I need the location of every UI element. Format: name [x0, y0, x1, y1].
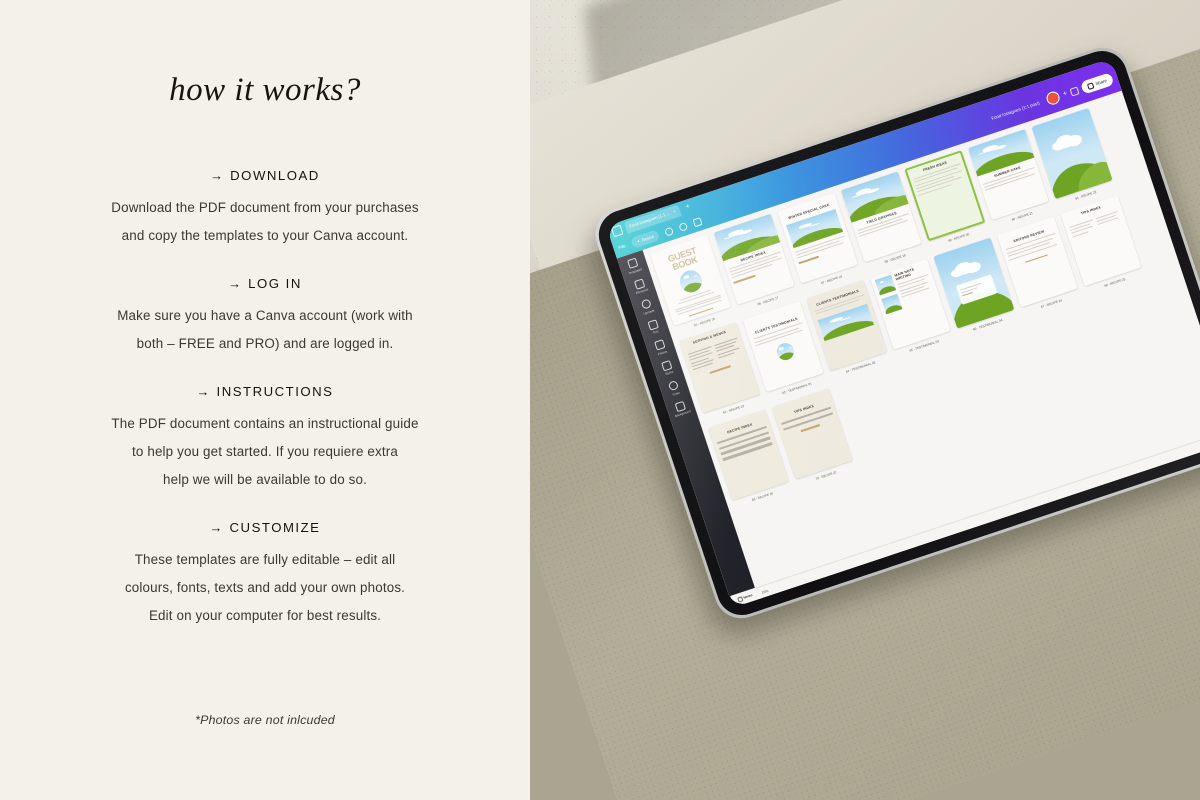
- step-body-line: help we will be available to do so.: [0, 466, 530, 494]
- undo-icon[interactable]: [664, 226, 674, 236]
- cloud-shape: [683, 275, 689, 280]
- sidebar-item-label: Styles: [665, 370, 674, 376]
- page-photo: [875, 275, 896, 296]
- zoom-level[interactable]: 16%: [761, 588, 769, 594]
- two-column-body: MAIN NOTE WRITING: [875, 264, 936, 315]
- step-log-in: →LOG IN Make sure you have a Canva accou…: [0, 276, 530, 358]
- file-menu[interactable]: File: [618, 243, 626, 250]
- sparkle-icon: ✦: [636, 238, 641, 244]
- page-photo: [881, 294, 902, 315]
- close-icon[interactable]: ×: [672, 209, 676, 215]
- accent-line: [1025, 254, 1048, 263]
- sidebar-item-uploads[interactable]: Uploads: [633, 296, 660, 317]
- cloud-shape: [855, 187, 871, 197]
- step-download: →DOWNLOAD Download the PDF document from…: [0, 168, 530, 250]
- step-heading-label: INSTRUCTIONS: [217, 384, 334, 399]
- arrow-icon: →: [210, 168, 223, 183]
- hill-shape: [877, 284, 896, 296]
- step-heading: →DOWNLOAD: [0, 168, 530, 183]
- step-heading: →CUSTOMIZE: [0, 520, 530, 535]
- cloud-shape: [879, 280, 884, 284]
- avatar-photo: [774, 341, 795, 362]
- cloud-shape: [953, 260, 974, 277]
- step-heading-label: CUSTOMIZE: [230, 520, 321, 535]
- sidebar-item-label: Text: [652, 329, 659, 335]
- sidebar-item-label: Draw: [672, 390, 680, 396]
- sidebar-item-text[interactable]: Text: [640, 316, 667, 337]
- redo-icon[interactable]: [678, 221, 688, 231]
- hill-shape: [883, 303, 902, 315]
- home-icon[interactable]: [611, 224, 624, 237]
- hill-shape: [776, 351, 795, 363]
- step-body-line: These templates are fully editable – edi…: [0, 546, 530, 574]
- cloud-shape: [1054, 133, 1075, 151]
- accent-line: [962, 292, 972, 296]
- new-tab-button[interactable]: +: [682, 202, 694, 212]
- arrow-icon: →: [228, 276, 241, 291]
- step-heading-label: DOWNLOAD: [230, 168, 320, 183]
- step-heading: →LOG IN: [0, 276, 530, 291]
- sidebar-item-label: Photos: [657, 349, 667, 356]
- cloud-shape: [779, 347, 784, 351]
- accent-line: [800, 424, 820, 432]
- arrow-icon: →: [210, 520, 223, 535]
- step-body-line: colours, fonts, texts and add your own p…: [0, 574, 530, 602]
- sidebar-item-styles[interactable]: Styles: [654, 357, 681, 378]
- arrow-icon: →: [197, 384, 210, 399]
- mockup-page: how it works? →DOWNLOAD Download the PDF…: [0, 0, 1200, 800]
- step-body-line: The PDF document contains an instruction…: [0, 410, 530, 438]
- notes-label: Notes: [743, 593, 753, 600]
- cover-title: GUEST BOOK: [655, 240, 711, 276]
- footnote: *Photos are not inlcuded: [0, 713, 530, 727]
- sidebar-item-templates[interactable]: Templates: [620, 255, 647, 276]
- accent-line: [709, 365, 731, 373]
- cloud-save-icon[interactable]: [693, 217, 703, 227]
- cloud-shape: [798, 222, 812, 230]
- sidebar-item-photos[interactable]: Photos: [647, 337, 674, 358]
- instructions-panel: how it works? →DOWNLOAD Download the PDF…: [0, 0, 530, 800]
- step-heading-label: LOG IN: [248, 276, 302, 291]
- step-body-line: and copy the templates to your Canva acc…: [0, 222, 530, 250]
- sidebar-item-label: Uploads: [643, 308, 655, 315]
- steps-list: →DOWNLOAD Download the PDF document from…: [0, 168, 530, 656]
- cloud-shape: [982, 144, 998, 153]
- step-customize: →CUSTOMIZE These templates are fully edi…: [0, 520, 530, 630]
- sidebar-item-background[interactable]: Background: [667, 398, 694, 419]
- step-body-line: Edit on your computer for best results.: [0, 602, 530, 630]
- step-body-line: both – FREE and PRO) and are logged in.: [0, 330, 530, 358]
- step-body-line: Download the PDF document from your purc…: [0, 194, 530, 222]
- product-photo-scene: Food Instagram (1:1 … × + File ✦ Resize: [530, 0, 1200, 800]
- sidebar-item-elements[interactable]: Elements: [627, 276, 654, 297]
- page-title: how it works?: [0, 72, 530, 109]
- notes-icon: [737, 596, 743, 602]
- cloud-shape: [728, 229, 744, 238]
- share-label: Share: [1095, 78, 1108, 86]
- add-collaborator-button[interactable]: +: [1062, 90, 1068, 98]
- cloud-shape: [830, 316, 844, 323]
- share-icon: [1087, 82, 1095, 90]
- step-heading: →INSTRUCTIONS: [0, 384, 530, 399]
- accent-line: [799, 256, 819, 264]
- step-body-line: to help you get started. If you requiere…: [0, 438, 530, 466]
- download-icon[interactable]: [1070, 86, 1080, 96]
- step-body-line: Make sure you have a Canva account (work…: [0, 302, 530, 330]
- sidebar-item-draw[interactable]: Draw: [661, 378, 688, 399]
- resize-label: Resize: [641, 234, 655, 243]
- cover-photo: [677, 267, 705, 295]
- step-instructions: →INSTRUCTIONS The PDF document contains …: [0, 384, 530, 494]
- hill-shape: [819, 316, 874, 342]
